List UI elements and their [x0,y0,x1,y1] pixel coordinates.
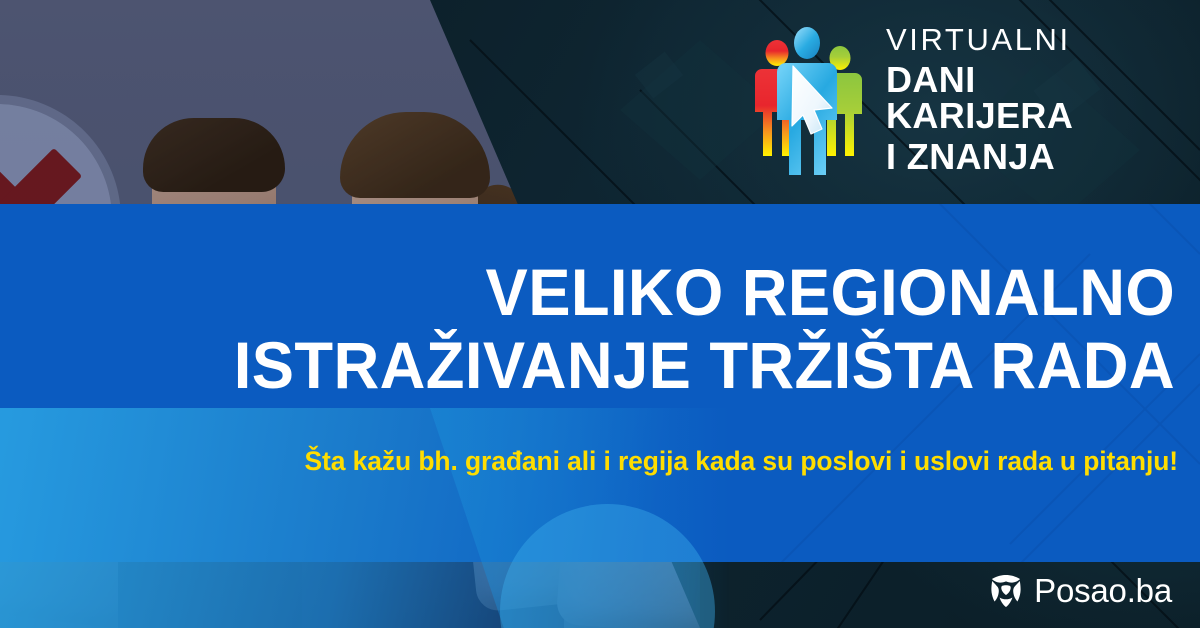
three-people-with-cursor-icon [748,22,868,182]
brand-logo-text: Posao.ba [1034,572,1172,610]
event-logo-line-1: VIRTUALNI [886,24,1168,55]
promo-banner: VELIKO REGIONALNO ISTRAŽIVANJE TRŽIŠTA R… [0,0,1200,628]
event-logo-line-2: DANI KARIJERA [886,62,1168,134]
event-logo: VIRTUALNI DANI KARIJERA I ZNANJA [748,22,1168,182]
event-logo-text: VIRTUALNI DANI KARIJERA I ZNANJA [886,24,1168,181]
subheadline: Šta kažu bh. građani ali i regija kada s… [24,446,1178,477]
headline-line-2: ISTRAŽIVANJE TRŽIŠTA RADA [47,335,1175,396]
shield-swirl-icon [989,572,1023,610]
event-logo-line-3: I ZNANJA [886,139,1168,175]
headline-line-1: VELIKO REGIONALNO [47,262,1175,323]
brand-logo: Posao.ba [989,572,1172,610]
headline: VELIKO REGIONALNO ISTRAŽIVANJE TRŽIŠTA R… [0,262,1175,397]
